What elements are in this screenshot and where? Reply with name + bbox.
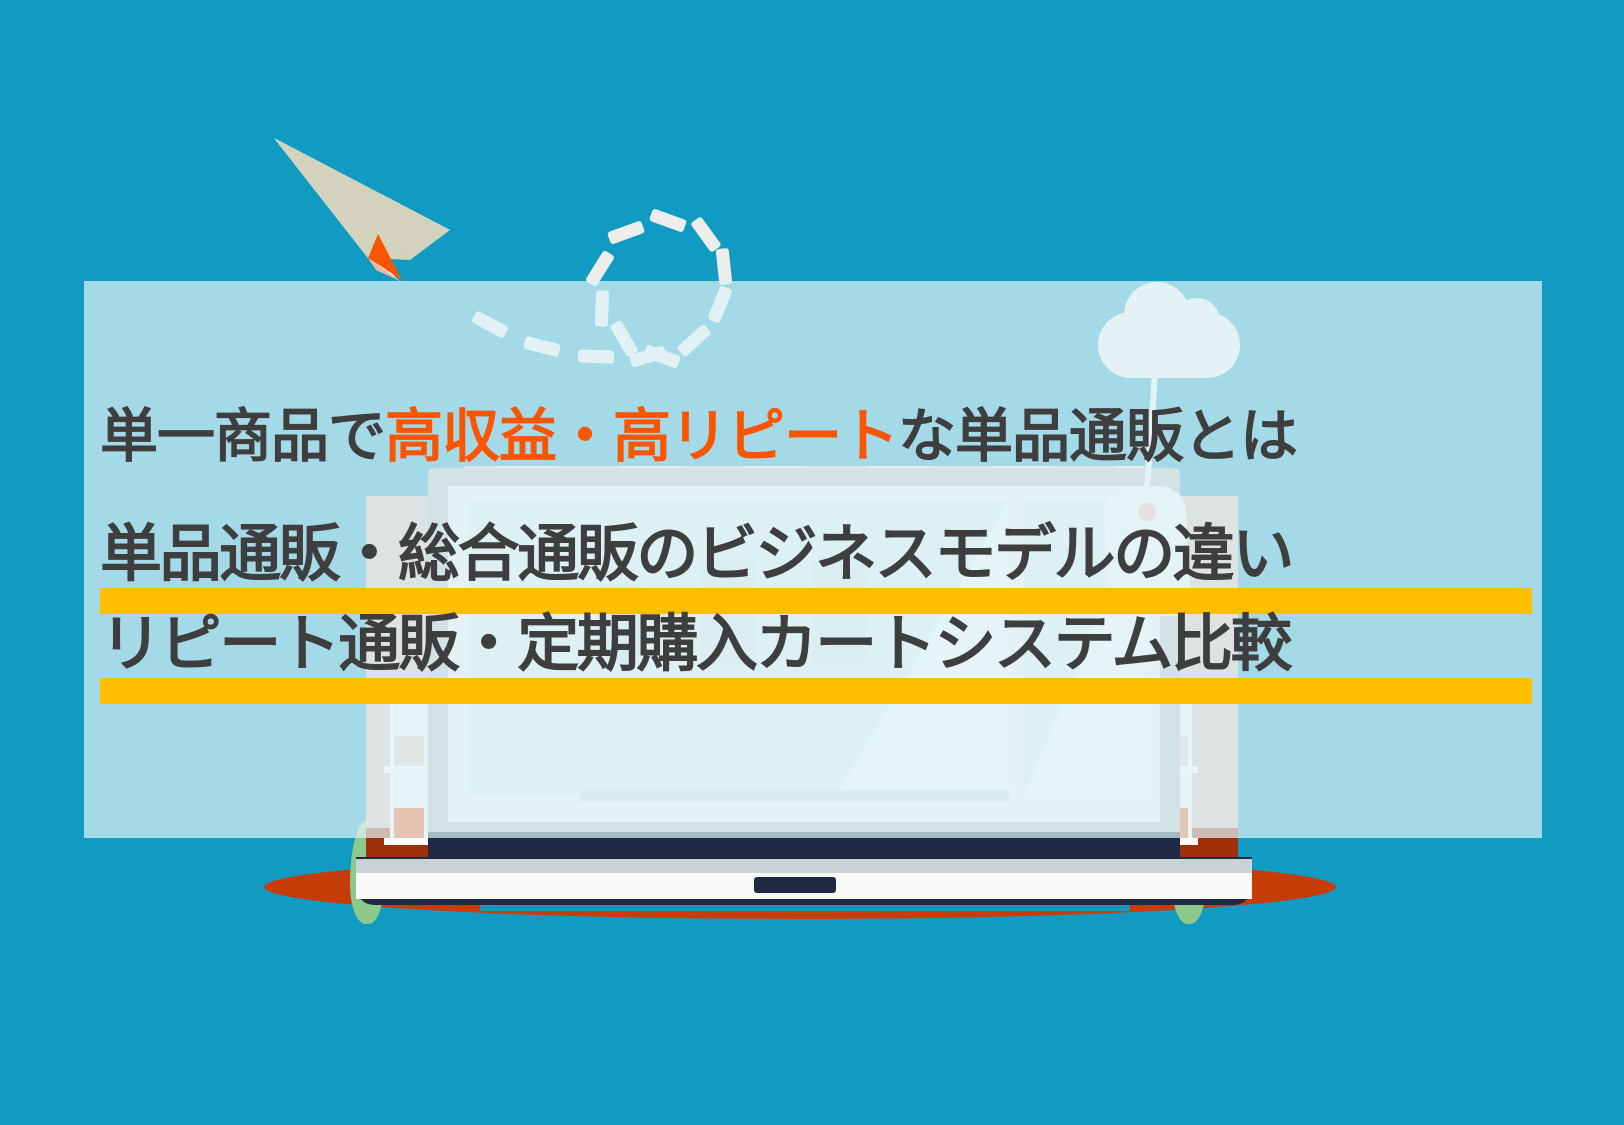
highlight-bar-line2 xyxy=(100,678,1532,704)
laptop-foot xyxy=(480,905,1130,911)
laptop-keyboard-edge xyxy=(356,859,1252,873)
trail-dash xyxy=(716,248,733,285)
building-window-sill xyxy=(384,838,434,845)
trail-dash xyxy=(649,208,687,233)
trail-dash xyxy=(690,216,722,253)
trail-dash xyxy=(607,220,645,245)
text-panel-overlay xyxy=(84,281,1542,838)
banner-canvas: 単一商品で高収益・高リピートな単品通販とは 単品通販・総合通販のビジネスモデルの… xyxy=(0,0,1624,1125)
highlight-bar-line1 xyxy=(100,588,1532,614)
laptop-trackpad xyxy=(754,877,836,893)
